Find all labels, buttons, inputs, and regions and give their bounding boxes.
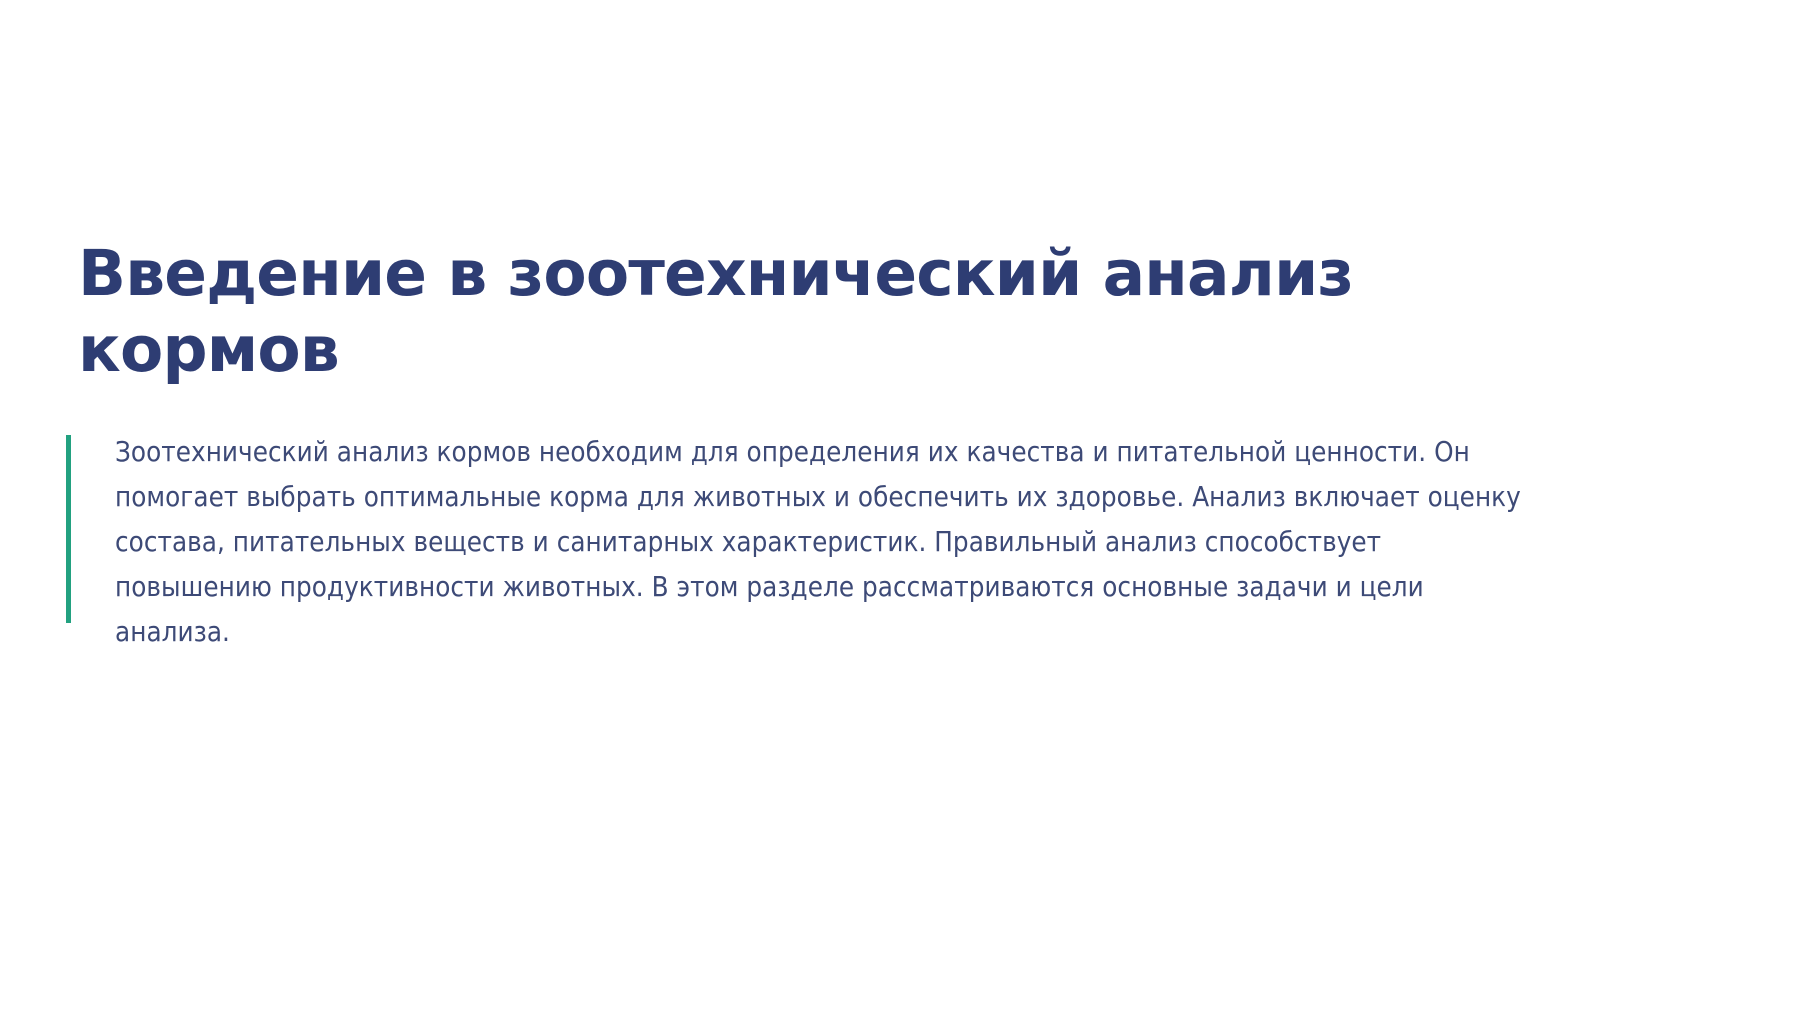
slide-content: Введение в зоотехнический анализ кормов … xyxy=(66,236,1626,655)
accent-bar xyxy=(66,435,71,623)
page-title: Введение в зоотехнический анализ кормов xyxy=(66,236,1478,388)
body-paragraph: Зоотехнический анализ кормов необходим д… xyxy=(115,430,1535,655)
slide-root: Введение в зоотехнический анализ кормов … xyxy=(0,0,1800,1013)
body-block: Зоотехнический анализ кормов необходим д… xyxy=(66,430,1626,655)
